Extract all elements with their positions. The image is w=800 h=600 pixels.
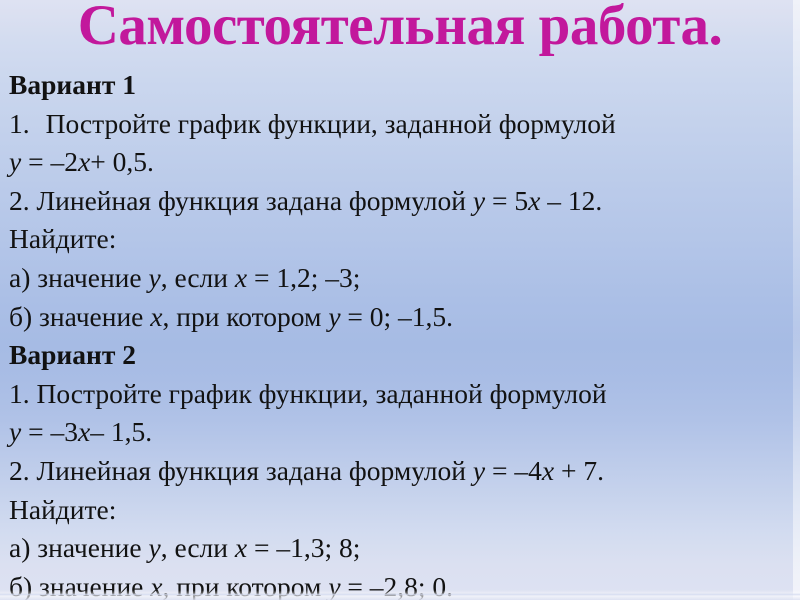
variant-1-item-a-tail: = 1,2; –3;	[247, 262, 360, 293]
variant-1-task-2-prefix: 2. Линейная функция задана формулой	[9, 185, 473, 216]
variant-2-task-2-tail: + 7.	[554, 455, 604, 486]
variant-1-task-1-body: Постройте график функции, заданной форму…	[46, 108, 616, 139]
variant-1-task-2-tail: – 12.	[540, 185, 602, 216]
variant-1-task-2-x: x	[528, 185, 540, 216]
variant-1-find-label: Найдите:	[9, 220, 795, 259]
variant-2-task-2-mid: = –4	[485, 455, 542, 486]
variant-2-heading-label: Вариант 2	[9, 339, 136, 370]
variant-2-formula-x: x	[78, 416, 90, 447]
variant-1-heading-label: Вариант 1	[9, 69, 136, 100]
variant-1-task-1: 1.Постройте график функции, заданной фор…	[9, 105, 795, 144]
variant-2-find-label: Найдите:	[9, 491, 795, 530]
variant-1-task-1-formula: y = –2x+ 0,5.	[9, 143, 795, 182]
variant-1-formula-x: x	[78, 146, 90, 177]
variant-1-formula-op: = –2	[21, 146, 78, 177]
variant-1-heading: Вариант 1	[9, 66, 795, 105]
variant-1-task-1-number: 1.	[9, 108, 30, 139]
variant-2-formula-op: = –3	[21, 416, 78, 447]
variant-2-item-a-mid: , если	[161, 532, 235, 563]
variant-1-task-2-mid: = 5	[485, 185, 528, 216]
variant-1-item-a: а) значение y, если x = 1,2; –3;	[9, 259, 795, 298]
variant-1-formula-y: y	[9, 146, 21, 177]
variant-1-item-b-mid: , при котором	[162, 301, 328, 332]
variant-2-task-2: 2. Линейная функция задана формулой y = …	[9, 452, 795, 491]
variant-2-task-1: 1. Постройте график функции, заданной фо…	[9, 375, 795, 414]
variant-1-find-label-text: Найдите:	[9, 223, 116, 254]
variant-1-item-a-prefix: а) значение	[9, 262, 148, 293]
variant-1-item-b-tail: = 0; –1,5.	[341, 301, 454, 332]
variant-2-item-b-prefix: б) значение	[9, 571, 150, 600]
variant-2-item-a-y: y	[148, 532, 160, 563]
slide-body: Вариант 1 1.Постройте график функции, за…	[9, 66, 795, 600]
variant-2-find-label-text: Найдите:	[9, 494, 116, 525]
variant-2-heading: Вариант 2	[9, 336, 795, 375]
slide-canvas: Самостоятельная работа. Вариант 1 1.Пост…	[0, 0, 800, 600]
variant-2-item-b-x: x	[150, 571, 162, 600]
variant-2-item-a-x: x	[235, 532, 247, 563]
variant-1-item-b: б) значение x, при котором y = 0; –1,5.	[9, 298, 795, 337]
variant-2-item-b: б) значение x, при котором y = –2,8; 0.	[9, 568, 795, 600]
page-title: Самостоятельная работа.	[0, 0, 800, 56]
variant-2-item-b-y: y	[328, 571, 340, 600]
variant-2-formula-tail: – 1,5.	[90, 416, 152, 447]
variant-2-item-b-tail: = –2,8; 0.	[341, 571, 454, 600]
variant-2-task-1-body: Постройте график функции, заданной форму…	[37, 378, 607, 409]
variant-2-item-a: а) значение y, если x = –1,3; 8;	[9, 529, 795, 568]
variant-2-task-2-prefix: 2. Линейная функция задана формулой	[9, 455, 473, 486]
variant-1-item-a-y: y	[148, 262, 160, 293]
variant-2-task-2-x: x	[542, 455, 554, 486]
variant-1-task-2: 2. Линейная функция задана формулой y = …	[9, 182, 795, 221]
variant-2-task-1-formula: y = –3x– 1,5.	[9, 413, 795, 452]
variant-2-task-2-y: y	[473, 455, 485, 486]
variant-2-item-a-prefix: а) значение	[9, 532, 148, 563]
variant-1-formula-tail: + 0,5.	[90, 146, 154, 177]
variant-1-item-b-y: y	[328, 301, 340, 332]
variant-2-task-1-number: 1.	[9, 378, 30, 409]
variant-2-item-a-tail: = –1,3; 8;	[247, 532, 360, 563]
variant-1-item-b-prefix: б) значение	[9, 301, 150, 332]
variant-1-item-a-mid: , если	[161, 262, 235, 293]
variant-2-formula-y: y	[9, 416, 21, 447]
variant-1-item-b-x: x	[150, 301, 162, 332]
variant-2-item-b-mid: , при котором	[162, 571, 328, 600]
variant-1-task-2-y: y	[473, 185, 485, 216]
variant-1-item-a-x: x	[235, 262, 247, 293]
